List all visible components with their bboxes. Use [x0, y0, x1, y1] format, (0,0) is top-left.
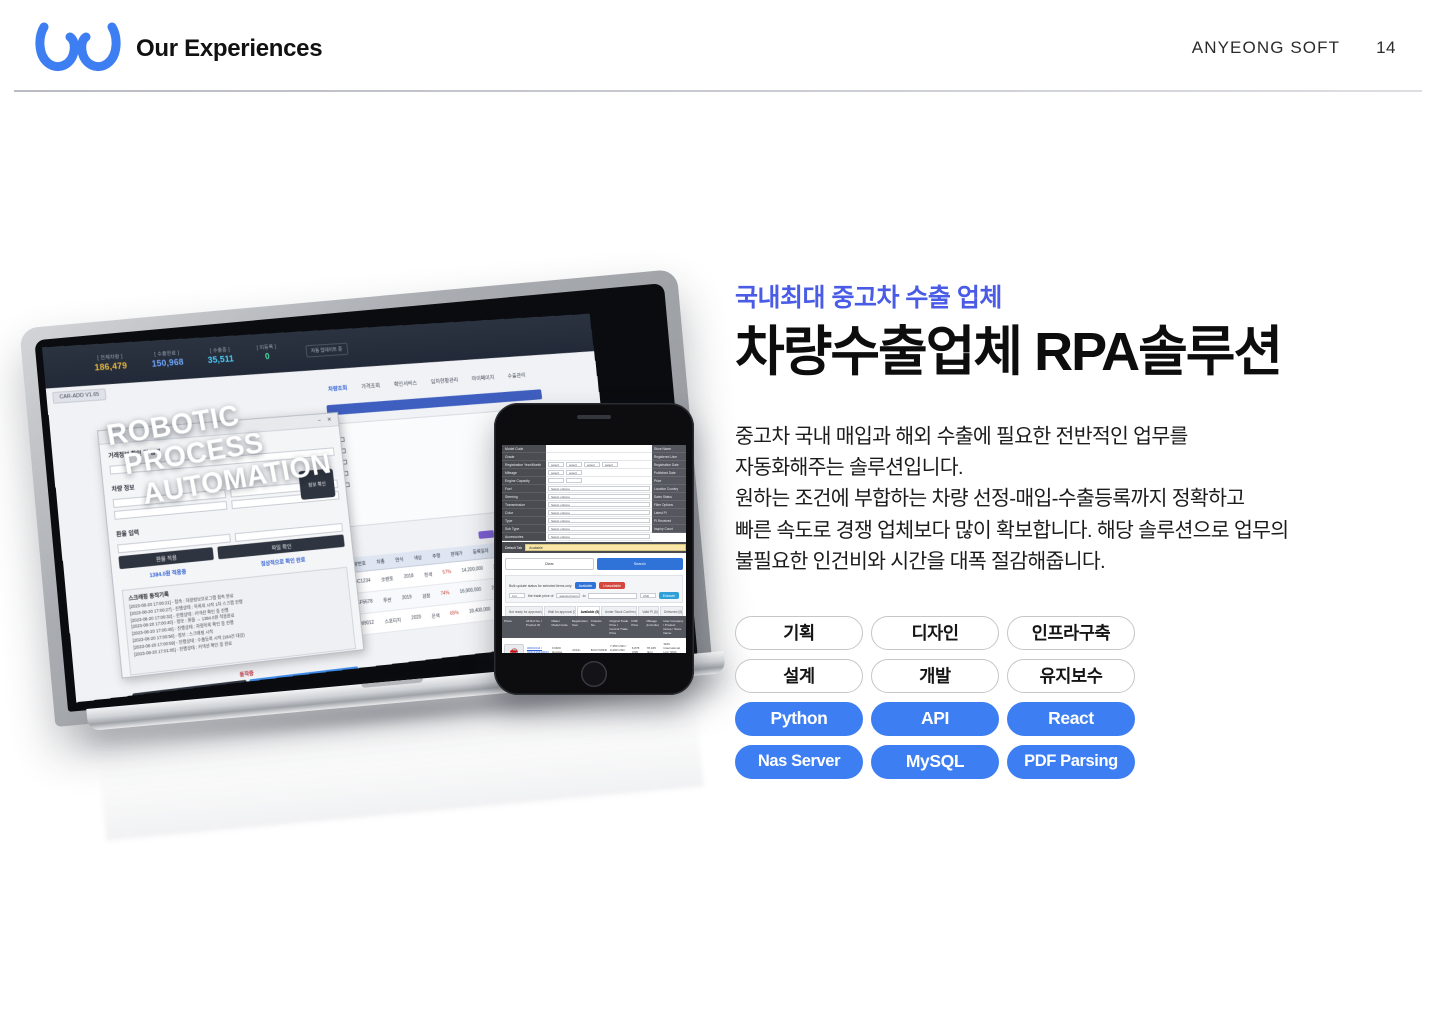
grid-cell: 2018	[404, 573, 415, 581]
slide-root: Our Experiences ANYEONG SOFT 14 [ 전체차량 ]…	[0, 0, 1436, 1015]
eyebrow-text: 국내최대 중고차 수출 업체	[735, 283, 1400, 314]
select-mileage-to[interactable]: select	[566, 470, 582, 475]
select-sub-type[interactable]: Select options	[548, 526, 650, 531]
phone-right-labels: Store Name Registered User Registration …	[652, 445, 686, 541]
tab-wait-approval[interactable]: Wait for approval (0)	[544, 606, 576, 616]
bulk-amount-input[interactable]	[588, 593, 636, 599]
tab-available[interactable]: Available (5)	[577, 606, 600, 616]
phone-home-button[interactable]	[581, 661, 607, 687]
phone-status-tabs: Not ready for approval (0) Wait for appr…	[505, 606, 683, 616]
field-accessories[interactable]: Select options	[546, 533, 652, 541]
label-engine-capacity: Engine Capacity	[502, 477, 546, 485]
tag-development[interactable]: 개발	[871, 659, 999, 693]
field-engine-capacity[interactable]	[546, 477, 652, 485]
grid-col: 색상	[413, 554, 422, 561]
cell-company: SMC International Ltd / SMC Internationa…	[663, 642, 684, 653]
grid-cell: 2020	[411, 614, 422, 622]
stat-unregistered: [ 미등록 ] 0	[256, 345, 277, 362]
grid-col: 주행	[432, 552, 441, 559]
label-steering: Steering	[502, 493, 546, 501]
bulk-available-button[interactable]: Available	[575, 582, 597, 589]
grid-cell: 쏘렌토	[381, 575, 394, 583]
cell-model: FORD Escape	[552, 646, 569, 653]
clear-button[interactable]: Clear	[505, 558, 594, 570]
field-steering[interactable]: Select options	[546, 493, 652, 501]
cell-year: 2014/-	[572, 648, 587, 652]
select-year-to[interactable]: select	[584, 462, 600, 467]
phone-form-fields: select select select select select selec…	[546, 445, 652, 541]
stat-exported: [ 수출완료 ] 150,968	[151, 351, 184, 369]
tag-row-3: Python API React	[735, 702, 1400, 736]
stat-value: 0	[257, 351, 278, 362]
select-year-from[interactable]: select	[548, 462, 564, 467]
phone-form-actions: Clear Search	[505, 558, 683, 570]
select-steering[interactable]: Select options	[548, 494, 650, 499]
th-mileage: Mileage (km/mile)	[646, 619, 660, 635]
phone-speaker	[577, 415, 611, 419]
field-registration-year[interactable]: select select select select	[546, 461, 652, 469]
phone-screen: Model Code Grade Registration Year/Month…	[502, 445, 686, 653]
select-month-to[interactable]: select	[602, 462, 618, 467]
grid-cell: 74%	[440, 590, 449, 598]
label-latest-pi: Latest PI	[652, 509, 686, 517]
th-ref-no: All Ref No. / Product ID	[526, 619, 548, 635]
select-mileage-from[interactable]: select	[548, 470, 564, 475]
app-tab-bar: 차량조회 가격조회 확인서비스 입차현황관리 마이페이지 수출관리	[328, 370, 526, 392]
label-published-date: Published Date	[652, 469, 686, 477]
label-registration-year: Registration Year/Month	[502, 461, 546, 469]
grid-cell: 14,200,000	[461, 566, 483, 575]
stat-value: 186,479	[94, 360, 128, 372]
tag-maintenance[interactable]: 유지보수	[1007, 659, 1135, 693]
label-grade: Grade	[502, 453, 546, 461]
default-tab-label: Default Tab	[505, 546, 522, 550]
default-tab-row: Default Tab Available	[502, 542, 686, 553]
phone-form-labels: Model Code Grade Registration Year/Month…	[502, 445, 546, 541]
table-row[interactable]: 🚗 00001644 / SMC230420004 FORD Escape 20…	[502, 638, 686, 653]
bulk-to-label: to	[583, 594, 586, 598]
app-window-title: CAR-ADD V1.65	[52, 388, 106, 403]
label-sales-status: Sales Status	[652, 493, 686, 501]
label-filter-options: Filter Options	[652, 501, 686, 509]
th-fob-price: FOB Price	[631, 619, 643, 635]
search-button[interactable]: Search	[597, 558, 684, 570]
stat-in-progress: [ 수출중 ] 35,511	[207, 348, 235, 365]
brand-title: Our Experiences	[136, 37, 322, 61]
label-registration-date: Registration Date	[652, 461, 686, 469]
stat-value: 35,511	[207, 354, 234, 366]
select-color[interactable]: Select options	[548, 510, 650, 515]
tag-python[interactable]: Python	[735, 702, 863, 736]
body-description: 중고차 국내 매입과 해외 수출에 필요한 전반적인 업무를 자동화해주는 솔루…	[735, 421, 1400, 578]
grid-cell: 스포티지	[384, 617, 401, 626]
label-registered-user: Registered User	[652, 453, 686, 461]
grid-cell: 은색	[431, 612, 440, 620]
select-selected-items[interactable]: selected items	[556, 593, 579, 598]
tag-row-4: Nas Server MySQL PDF Parsing	[735, 745, 1400, 779]
phone-search-form: Model Code Grade Registration Year/Month…	[502, 445, 686, 541]
header-divider	[14, 90, 1422, 92]
anyeong-soft-logo-icon	[34, 21, 122, 77]
cell-trade-price: 7,350 USD / 9,200 USD (9,300)	[610, 644, 629, 653]
label-accessories: Accessories	[502, 533, 546, 541]
grid-cell: 검정	[422, 592, 431, 599]
label-type: Type	[502, 517, 546, 525]
label-color: Color	[502, 509, 546, 517]
dialog-confirm-square-button[interactable]: 정보 확인	[298, 468, 335, 499]
select-transmission[interactable]: Select options	[548, 502, 650, 507]
device-mockup-stage: [ 전체차량 ] 186,479 [ 수출완료 ] 150,968 [ 수출중 …	[0, 280, 740, 820]
field-sub-type[interactable]: Select options	[546, 525, 652, 533]
tab-under-stock-confirm[interactable]: Under Stock Confirm (0)	[601, 606, 637, 616]
field-mileage[interactable]: select select	[546, 469, 652, 477]
label-sub-type: Sub Type	[502, 525, 546, 533]
tag-list: 기획 디자인 인프라구축 설계 개발 유지보수 Python API React…	[735, 616, 1400, 779]
label-inquiry-count: Inquiry Count	[652, 525, 686, 533]
select-accessories[interactable]: Select options	[548, 534, 650, 539]
select-fuel[interactable]: Select options	[548, 486, 650, 491]
field-transmission[interactable]: Select options	[546, 501, 652, 509]
cell-photo: 🚗	[504, 644, 524, 653]
tab-not-ready[interactable]: Not ready for approval (0)	[505, 606, 543, 616]
bulk-status-row: Bulk update status for selected items on…	[509, 582, 679, 589]
tag-design[interactable]: 디자인	[871, 616, 999, 650]
select-cut[interactable]: Cut	[509, 593, 525, 598]
tag-planning[interactable]: 기획	[735, 616, 863, 650]
label-price: Price	[652, 477, 686, 485]
th-chassis-no: Chassis No.	[591, 619, 607, 635]
input-cc-to[interactable]	[566, 478, 582, 483]
tag-row-2: 설계 개발 유지보수	[735, 659, 1400, 693]
bulk-title: Bulk update status for selected items on…	[509, 584, 572, 588]
tab-price-search[interactable]: 가격조회	[361, 381, 381, 391]
slide-content: 국내최대 중고차 수출 업체 차량수출업체 RPA솔루션 중고차 국내 매입과 …	[735, 283, 1400, 779]
tab-mypage[interactable]: 마이페이지	[471, 373, 494, 383]
grid-cell: 투싼	[383, 597, 392, 605]
grid-cell: 흰색	[424, 571, 433, 578]
tab-inbound-mgmt[interactable]: 입차현황관리	[430, 375, 458, 385]
car-photo-icon: 🚗	[504, 644, 524, 653]
bulk-price-row: Cut the trade price of selected items to…	[509, 592, 679, 599]
minimize-icon[interactable]: –	[318, 418, 322, 424]
bulk-execute-button[interactable]: Execute	[659, 592, 679, 599]
label-location-country: Location Country	[652, 485, 686, 493]
close-icon[interactable]: ✕	[327, 416, 332, 423]
auto-update-chip[interactable]: 자동 업데이트 중	[305, 342, 348, 357]
bulk-update-panel: Bulk update status for selected items on…	[505, 575, 683, 603]
app-status-chip	[478, 530, 494, 539]
field-fuel[interactable]: Select options	[546, 485, 652, 493]
page-title: 차량수출업체 RPA솔루션	[735, 322, 1400, 382]
select-type[interactable]: Select options	[548, 518, 650, 523]
stat-value: 150,968	[151, 357, 184, 369]
tag-architecture[interactable]: 설계	[735, 659, 863, 693]
grid-cell: 2019	[402, 594, 413, 602]
tag-react[interactable]: React	[1007, 702, 1135, 736]
header-right: ANYEONG SOFT 14	[1192, 38, 1396, 58]
th-model-code: Maker Model Code	[551, 619, 568, 635]
tag-nas-server[interactable]: Nas Server	[735, 745, 863, 779]
grid-col: 차종	[376, 558, 385, 565]
input-cc-from[interactable]	[548, 478, 564, 483]
tab-valid-pi[interactable]: Valid PI (0)	[638, 606, 659, 616]
grid-col: 판매가	[450, 550, 463, 558]
field-grade[interactable]	[546, 453, 652, 461]
tag-infrastructure[interactable]: 인프라구축	[1007, 616, 1135, 650]
phone-mockup: Model Code Grade Registration Year/Month…	[494, 403, 694, 695]
label-store-name: Store Name	[652, 445, 686, 453]
phone-table-header: Photo All Ref No. / Product ID Maker Mod…	[502, 616, 686, 638]
cell-chassis: BUCTU8KD	[591, 648, 607, 652]
grid-cell: 18,400,000	[469, 607, 491, 616]
rpa-dialog: – ✕ 거래정보 확인 및 입력 차량 정보	[97, 412, 364, 679]
page-number: 14	[1376, 38, 1396, 58]
grid-col: 등록일자	[472, 547, 488, 555]
org-name: ANYEONG SOFT	[1192, 38, 1340, 58]
slide-header: Our Experiences ANYEONG SOFT 14	[0, 0, 1436, 92]
grid-cell: 16,900,000	[459, 587, 481, 596]
cell-ref-no[interactable]: 00001644 / SMC230420004	[527, 646, 549, 653]
tag-mysql[interactable]: MySQL	[871, 745, 999, 779]
tag-pdf-parsing[interactable]: PDF Parsing	[1007, 745, 1135, 779]
tab-export-mgmt[interactable]: 수출관리	[507, 370, 526, 379]
tag-api[interactable]: API	[871, 702, 999, 736]
tab-confirm-service[interactable]: 확인서비스	[393, 378, 417, 388]
label-fuel: Fuel	[502, 485, 546, 493]
grid-col: 연식	[395, 556, 404, 563]
field-color[interactable]: Select options	[546, 509, 652, 517]
field-type[interactable]: Select options	[546, 517, 652, 525]
th-registration-year: Registration Year	[572, 619, 588, 635]
tab-delivered[interactable]: Delivered (0)	[660, 606, 683, 616]
grid-cell: 57%	[442, 569, 451, 576]
brand-lockup: Our Experiences	[34, 21, 322, 77]
th-store-name: User Company / Product Group / Store Nam…	[663, 619, 684, 635]
cell-mileage: 78,045 (km)	[647, 646, 661, 653]
th-photo: Photo	[504, 619, 523, 635]
tab-vehicle-search[interactable]: 차량조회	[328, 383, 348, 393]
label-transmission: Transmission	[502, 501, 546, 509]
th-trade-price: Original Trade Price / Current Trade Pri…	[609, 619, 628, 635]
default-tab-select[interactable]: Available	[525, 544, 686, 551]
field-model-code[interactable]	[546, 445, 652, 453]
bulk-unavailable-button[interactable]: Unavailable	[599, 582, 625, 589]
label-pi-received: PI Received	[652, 517, 686, 525]
select-currency[interactable]: USD	[640, 593, 656, 598]
grid-cell: 65%	[450, 610, 459, 618]
bulk-of-label: the trade price of	[528, 594, 553, 598]
label-mileage: Mileage	[502, 469, 546, 477]
select-month-from[interactable]: select	[566, 462, 582, 467]
label-model-code: Model Code	[502, 445, 546, 453]
tag-row-1: 기획 디자인 인프라구축	[735, 616, 1400, 650]
cell-fob: 6,878 USD	[632, 646, 644, 653]
stat-total: [ 전체차량 ] 186,479	[94, 355, 128, 373]
